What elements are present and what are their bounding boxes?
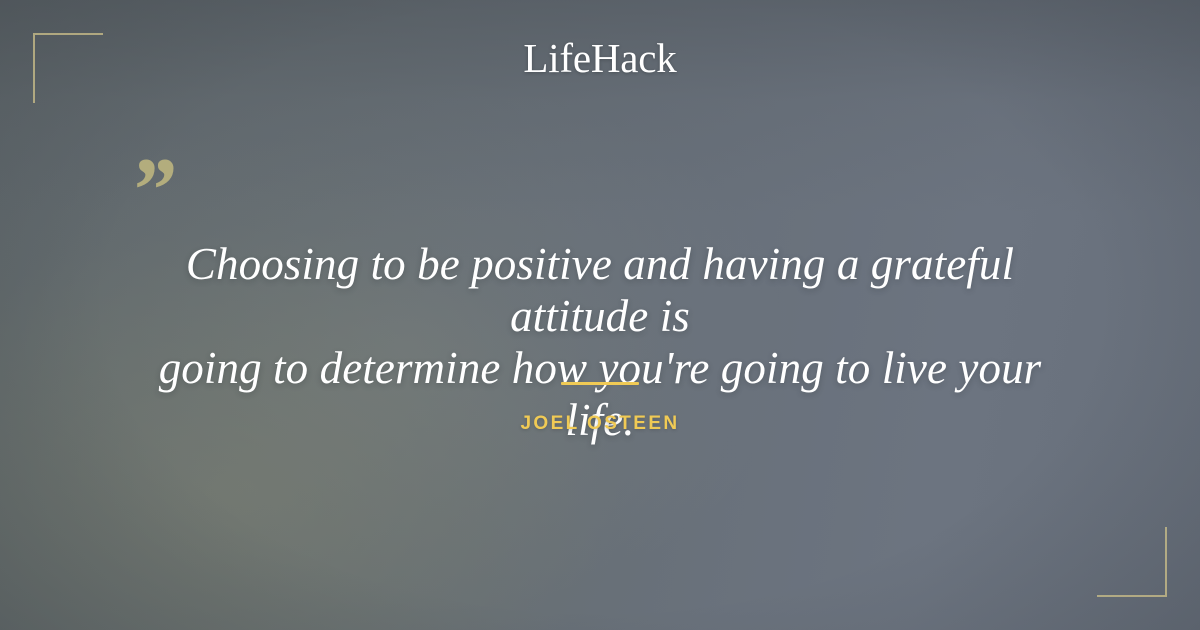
divider-wrapper (0, 382, 1200, 385)
lifehack-logo: LifeHack (0, 38, 1200, 79)
quote-line-1: Choosing to be positive and having a gra… (186, 239, 1014, 341)
gold-divider (561, 382, 639, 385)
quote-card: LifeHack ” Choosing to be positive and h… (0, 0, 1200, 630)
corner-bracket-bottom-right-icon (1097, 527, 1167, 597)
quote-author: JOEL OSTEEN (0, 413, 1200, 435)
quotation-mark-icon: ” (129, 144, 175, 236)
